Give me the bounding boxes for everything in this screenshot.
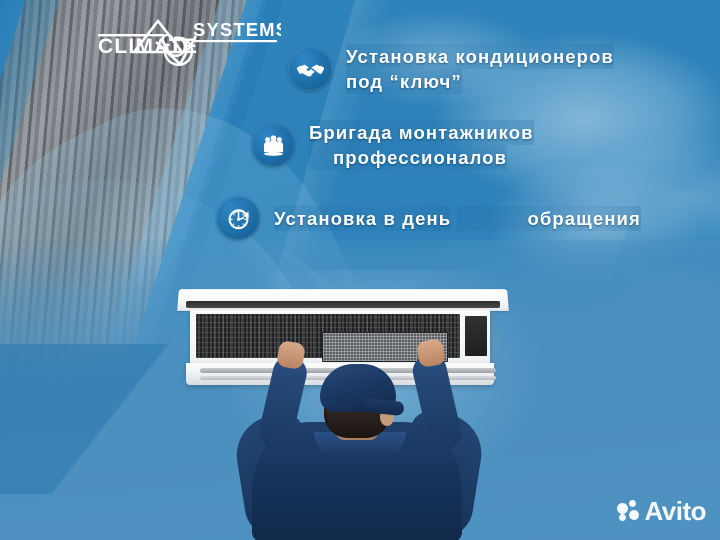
- avito-dots-icon: [617, 500, 639, 522]
- feature-item-same-day-installation[interactable]: Установка в день обращения: [216, 196, 720, 240]
- ac-body: [190, 310, 490, 365]
- feature-line-1: Бригада монтажников: [309, 120, 534, 145]
- ac-panel-lip: [186, 301, 500, 308]
- avito-watermark: Avito: [617, 498, 706, 524]
- logo-text-systems: SYSTEMS: [193, 19, 281, 40]
- feature-text: Установка в день обращения: [274, 206, 641, 231]
- ac-control-box: [465, 316, 487, 356]
- feature-item-professional-team[interactable]: Бригада монтажников профессионалов: [251, 120, 720, 170]
- handshake-icon: [288, 47, 332, 91]
- feature-item-turnkey-installation[interactable]: Установка кондиционеров под “ключ”: [288, 44, 720, 94]
- feature-list: Установка кондиционеров под “ключ”: [0, 44, 720, 240]
- avito-label: Avito: [644, 498, 706, 524]
- feature-line-1: Установка в день: [274, 206, 451, 231]
- technician-figure: [252, 360, 462, 540]
- feature-text: Бригада монтажников профессионалов: [309, 120, 720, 170]
- three-people-icon: [251, 123, 295, 167]
- feature-line-2: профессионалов: [309, 145, 507, 170]
- feature-line-1: Установка кондиционеров: [346, 44, 614, 69]
- feature-line-2: обращения: [457, 206, 640, 231]
- feature-line-2: под “ключ”: [346, 69, 462, 94]
- poster-canvas: CLIMATE SYSTEMS Установка: [0, 0, 720, 540]
- clock-arrow-icon: [216, 196, 260, 240]
- feature-text: Установка кондиционеров под “ключ”: [346, 44, 720, 94]
